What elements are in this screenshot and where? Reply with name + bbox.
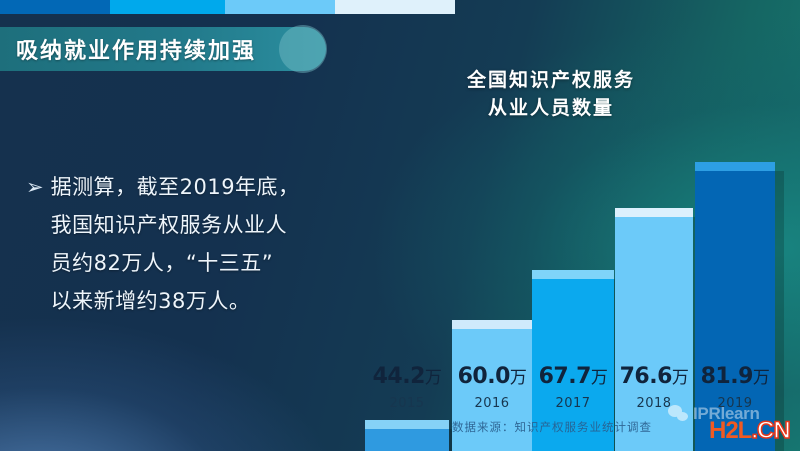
top-color-strips xyxy=(0,0,800,14)
site-watermark: H2L.CN xyxy=(709,417,790,445)
wechat-icon xyxy=(668,405,690,424)
site-watermark-tld: .CN xyxy=(751,417,789,444)
bullet-line-2: 我国知识产权服务从业人 xyxy=(51,206,300,244)
bar-2015 xyxy=(365,429,449,451)
bar-year-label-2015: 2015 xyxy=(365,396,449,411)
chart-source-note: 数据来源：知识产权服务业统计调查 xyxy=(452,419,652,435)
bullet-line-3: 员约82万人，“十三五” xyxy=(51,244,300,282)
strip-pale xyxy=(335,0,455,14)
slide-root: 吸纳就业作用持续加强 ➢ 据测算，截至2019年底， 我国知识产权服务从业人 员… xyxy=(0,0,800,451)
strip-dark-blue xyxy=(0,0,110,14)
bar-column-2015[interactable]: 44.2万2015 xyxy=(365,363,449,451)
bar-value-label-2016: 60.0万 xyxy=(452,363,532,389)
bullet-paragraph: ➢ 据测算，截至2019年底， 我国知识产权服务从业人 员约82万人，“十三五”… xyxy=(26,168,378,320)
bar-column-2019[interactable]: 81.9万2019 xyxy=(695,105,775,451)
bar-chart: 44.2万201560.0万201667.7万201776.6万201881.9… xyxy=(360,80,780,451)
bullet-text: 据测算，截至2019年底， 我国知识产权服务从业人 员约82万人，“十三五” 以… xyxy=(51,168,300,320)
bar-value-label-2015: 44.2万 xyxy=(365,363,449,389)
strip-filler xyxy=(455,0,800,14)
bar-top-face-2019 xyxy=(695,162,775,171)
bullet-arrow-icon: ➢ xyxy=(26,168,44,206)
bar-top-face-2018 xyxy=(615,208,693,217)
bar-top-face-2017 xyxy=(532,270,614,279)
page-title: 吸纳就业作用持续加强 xyxy=(16,33,256,65)
bar-value-label-2018: 76.6万 xyxy=(615,363,693,389)
bar-value-label-2019: 81.9万 xyxy=(695,363,775,389)
bullet-line-4: 以来新增约38万人。 xyxy=(51,282,300,320)
bar-year-label-2016: 2016 xyxy=(452,396,532,411)
bar-column-2017[interactable]: 67.7万2017 xyxy=(532,213,614,451)
bar-year-label-2017: 2017 xyxy=(532,396,614,411)
bullet-line-1: 据测算，截至2019年底， xyxy=(51,168,300,206)
strip-light-blue xyxy=(225,0,335,14)
section-heading-banner: 吸纳就业作用持续加强 xyxy=(0,27,326,71)
bar-value-label-2017: 67.7万 xyxy=(532,363,614,389)
bar-side-face-2019 xyxy=(775,171,784,451)
site-watermark-brand: H2L xyxy=(709,417,751,444)
strip-cyan xyxy=(110,0,225,14)
bar-top-face-2015 xyxy=(365,420,449,429)
bar-top-face-2016 xyxy=(452,320,532,329)
